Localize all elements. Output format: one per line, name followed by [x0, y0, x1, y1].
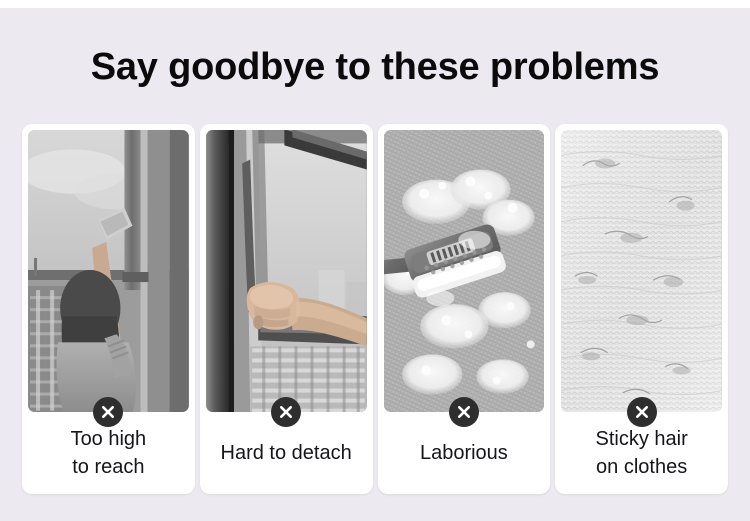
x-mark-icon-glyph [634, 404, 650, 420]
x-mark-icon [627, 397, 657, 427]
problem-card-list: Too high to reach [22, 124, 728, 494]
photo-hand-detaching-screen-graphic [206, 130, 367, 412]
photo-woman-reaching-window-graphic [28, 130, 189, 412]
problem-card-laborious[interactable]: Laborious [378, 124, 551, 494]
card-caption: Sticky hair on clothes [563, 420, 720, 486]
x-mark-icon-glyph [100, 404, 116, 420]
photo-brush-scrubbing-suds-graphic [384, 130, 545, 412]
problem-card-too-high-to-reach[interactable]: Too high to reach [22, 124, 195, 494]
card-caption: Hard to detach [208, 420, 365, 486]
x-mark-icon [449, 397, 479, 427]
page-title: Say goodbye to these problems [0, 44, 750, 90]
photo-hand-detaching-screen [206, 130, 367, 412]
x-mark-icon-glyph [278, 404, 294, 420]
photo-knit-fabric-lint [561, 130, 722, 412]
x-mark-icon [271, 397, 301, 427]
promo-banner: Say goodbye to these problems [0, 0, 750, 521]
photo-woman-reaching-window [28, 130, 189, 412]
card-caption: Too high to reach [30, 420, 187, 486]
photo-knit-fabric-lint-graphic [561, 130, 722, 412]
problem-card-sticky-hair-on-clothes[interactable]: Sticky hair on clothes [555, 124, 728, 494]
problem-card-hard-to-detach[interactable]: Hard to detach [200, 124, 373, 494]
photo-brush-scrubbing-suds [384, 130, 545, 412]
card-caption: Laborious [386, 420, 543, 486]
x-mark-icon-glyph [456, 404, 472, 420]
